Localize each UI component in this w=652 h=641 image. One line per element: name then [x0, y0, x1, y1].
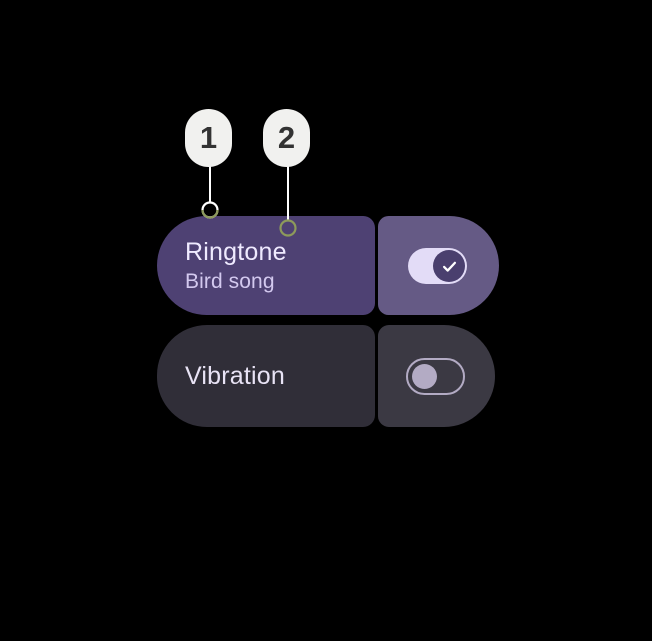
ringtone-setting-row[interactable]: Ringtone Bird song — [157, 216, 375, 315]
ringtone-toggle-container[interactable] — [378, 216, 499, 315]
vibration-toggle-container[interactable] — [378, 325, 495, 427]
screenshot-canvas: Ringtone Bird song Vibration — [0, 0, 652, 641]
ringtone-title: Ringtone — [185, 237, 375, 267]
callout-leader-lines — [0, 0, 652, 641]
vibration-title: Vibration — [185, 361, 375, 391]
ringtone-toggle-thumb — [433, 250, 465, 282]
callout-badge-2-number: 2 — [278, 120, 295, 156]
callout-badge-1-number: 1 — [200, 120, 217, 156]
callout-badge-1[interactable]: 1 — [185, 109, 232, 167]
check-icon — [440, 257, 459, 276]
callout-badge-2[interactable]: 2 — [263, 109, 310, 167]
vibration-toggle-thumb — [412, 364, 437, 389]
ringtone-subtitle: Bird song — [185, 269, 375, 295]
ringtone-toggle-switch[interactable] — [408, 248, 467, 284]
vibration-setting-row[interactable]: Vibration — [157, 325, 375, 427]
vibration-toggle-switch[interactable] — [406, 358, 465, 395]
